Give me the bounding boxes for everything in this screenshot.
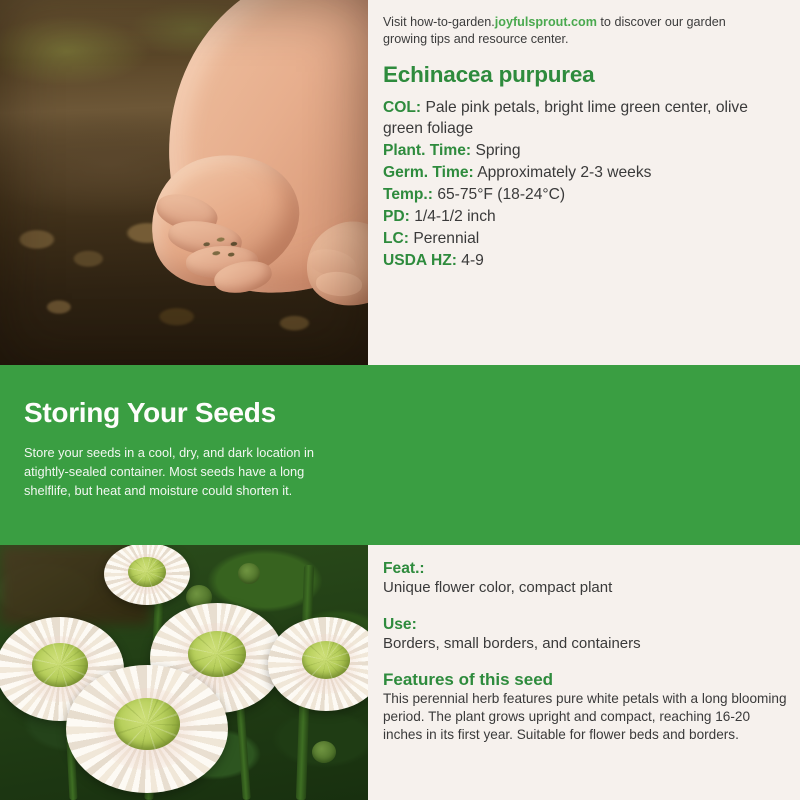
use-value: Borders, small borders, and containers [383,634,788,653]
spec-row-germ-time: Germ. Time: Approximately 2-3 weeks [383,162,788,183]
specification-panel: Visit how-to-garden.joyfulsprout.com to … [368,0,800,365]
seed-packet-infographic: Visit how-to-garden.joyfulsprout.com to … [0,0,800,800]
spec-label: COL: [383,99,421,116]
spec-value: 65-75°F (18-24°C) [437,186,565,203]
photo-echinacea-flowers [0,545,368,800]
top-section: Visit how-to-garden.joyfulsprout.com to … [0,0,800,365]
spec-row-plant-time: Plant. Time: Spring [383,140,788,161]
seed-features-body: This perennial herb features pure white … [383,690,788,744]
page-title: Echinacea purpurea [383,62,594,88]
spec-label: LC: [383,230,409,247]
visit-prefix: Visit how-to-garden. [383,15,495,29]
echinacea-bloom [268,617,368,711]
spec-value: Approximately 2-3 weeks [477,164,651,181]
spec-value: Pale pink petals, bright lime green cent… [383,99,748,137]
feat-label: Feat.: [383,559,788,578]
spec-label: PD: [383,208,410,225]
spec-row-lc: LC: Perennial [383,228,788,249]
flower-bud [312,741,336,763]
storage-heading: Storing Your Seeds [24,397,276,429]
spec-value: 4-9 [461,252,484,269]
spec-list: COL: Pale pink petals, bright lime green… [383,98,788,272]
spec-row-pd: PD: 1/4-1/2 inch [383,206,788,227]
echinacea-bloom [66,665,228,793]
feature-block-seed: Features of this seed This perennial her… [383,669,788,744]
echinacea-bloom [104,545,190,605]
use-label: Use: [383,615,788,634]
spec-value: Spring [475,142,520,159]
website-link[interactable]: joyfulsprout.com [495,15,597,29]
spec-value: Perennial [413,230,479,247]
feat-value: Unique flower color, compact plant [383,578,788,597]
flower-center [302,641,350,679]
flower-center [114,698,180,750]
bottom-section: Feat.: Unique flower color, compact plan… [0,545,800,800]
flower-center [128,557,166,587]
spec-row-temp: Temp.: 65-75°F (18-24°C) [383,184,788,205]
feature-block-feat: Feat.: Unique flower color, compact plan… [383,559,788,597]
photo-hands-sowing-seeds [0,0,368,365]
spec-label: USDA HZ: [383,252,457,269]
seed-features-heading: Features of this seed [383,669,788,690]
flower-bud [238,563,260,584]
spec-row-col: COL: Pale pink petals, bright lime green… [383,98,788,139]
feature-block-use: Use: Borders, small borders, and contain… [383,615,788,653]
spec-row-usda-hz: USDA HZ: 4-9 [383,250,788,271]
spec-label: Plant. Time: [383,142,471,159]
visit-line: Visit how-to-garden.joyfulsprout.com to … [383,14,743,47]
storage-band: Storing Your Seeds Store your seeds in a… [0,365,800,545]
spec-label: Germ. Time: [383,164,474,181]
spec-label: Temp.: [383,186,433,203]
storage-body-text: Store your seeds in a cool, dry, and dar… [24,443,354,500]
spec-value: 1/4-1/2 inch [414,208,496,225]
photo-vignette [0,0,368,365]
features-panel: Feat.: Unique flower color, compact plan… [368,545,800,800]
